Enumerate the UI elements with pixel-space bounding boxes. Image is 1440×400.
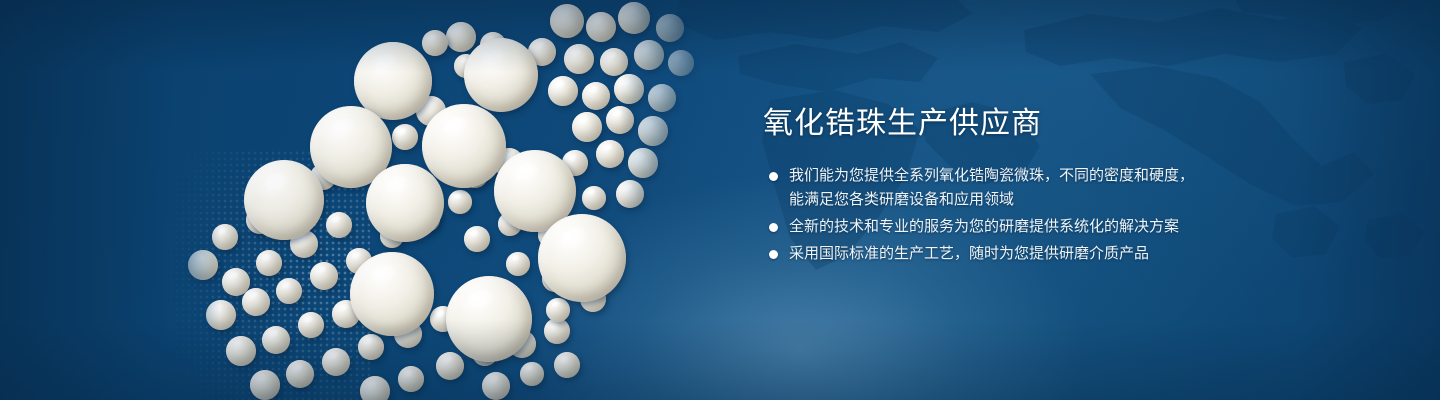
hero-banner: 氧化锆珠生产供应商 我们能为您提供全系列氧化锆陶瓷微珠，不同的密度和硬度， 能满… (0, 0, 1440, 400)
page-title: 氧化锆珠生产供应商 (763, 104, 1363, 144)
list-item-line1: 全新的技术和专业的服务为您的研磨提供系统化的解决方案 (789, 218, 1179, 235)
list-item: 我们能为您提供全系列氧化锆陶瓷微珠，不同的密度和硬度， 能满足您各类研磨设备和应… (763, 164, 1363, 212)
list-item: 全新的技术和专业的服务为您的研磨提供系统化的解决方案 (763, 215, 1363, 239)
list-item-line1: 采用国际标准的生产工艺，随时为您提供研磨介质产品 (789, 245, 1149, 262)
list-item-line1: 我们能为您提供全系列氧化锆陶瓷微珠，不同的密度和硬度， (789, 167, 1194, 184)
bullet-dot-icon (769, 250, 778, 259)
bullet-dot-icon (769, 223, 778, 232)
list-item: 采用国际标准的生产工艺，随时为您提供研磨介质产品 (763, 242, 1363, 266)
banner-copy: 氧化锆珠生产供应商 我们能为您提供全系列氧化锆陶瓷微珠，不同的密度和硬度， 能满… (763, 104, 1363, 269)
feature-list: 我们能为您提供全系列氧化锆陶瓷微珠，不同的密度和硬度， 能满足您各类研磨设备和应… (763, 164, 1363, 266)
bullet-dot-icon (769, 172, 778, 181)
list-item-line2: 能满足您各类研磨设备和应用领域 (789, 188, 1363, 212)
